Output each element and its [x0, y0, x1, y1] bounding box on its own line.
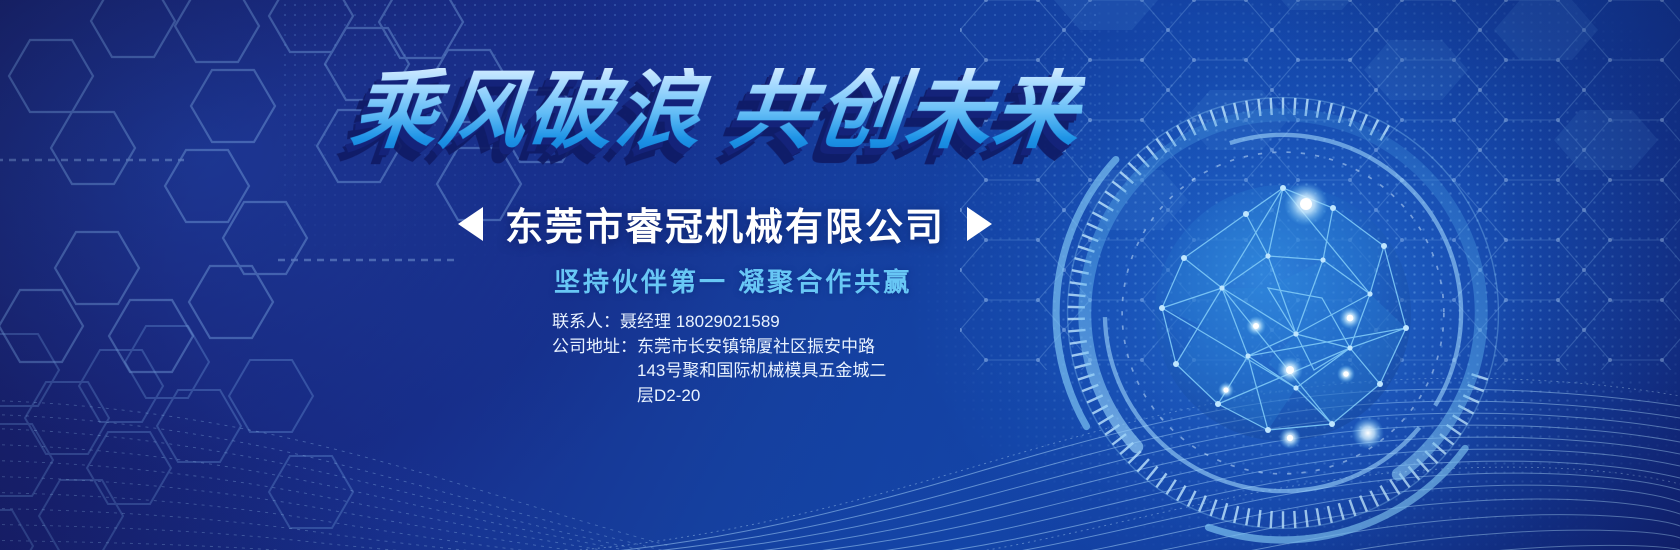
promo-banner: 乘风破浪 共创未来 东莞市睿冠机械有限公司 坚持伙伴第一 凝聚合作共赢 联系人：… [0, 0, 1680, 550]
vignette-overlay [0, 0, 1680, 550]
